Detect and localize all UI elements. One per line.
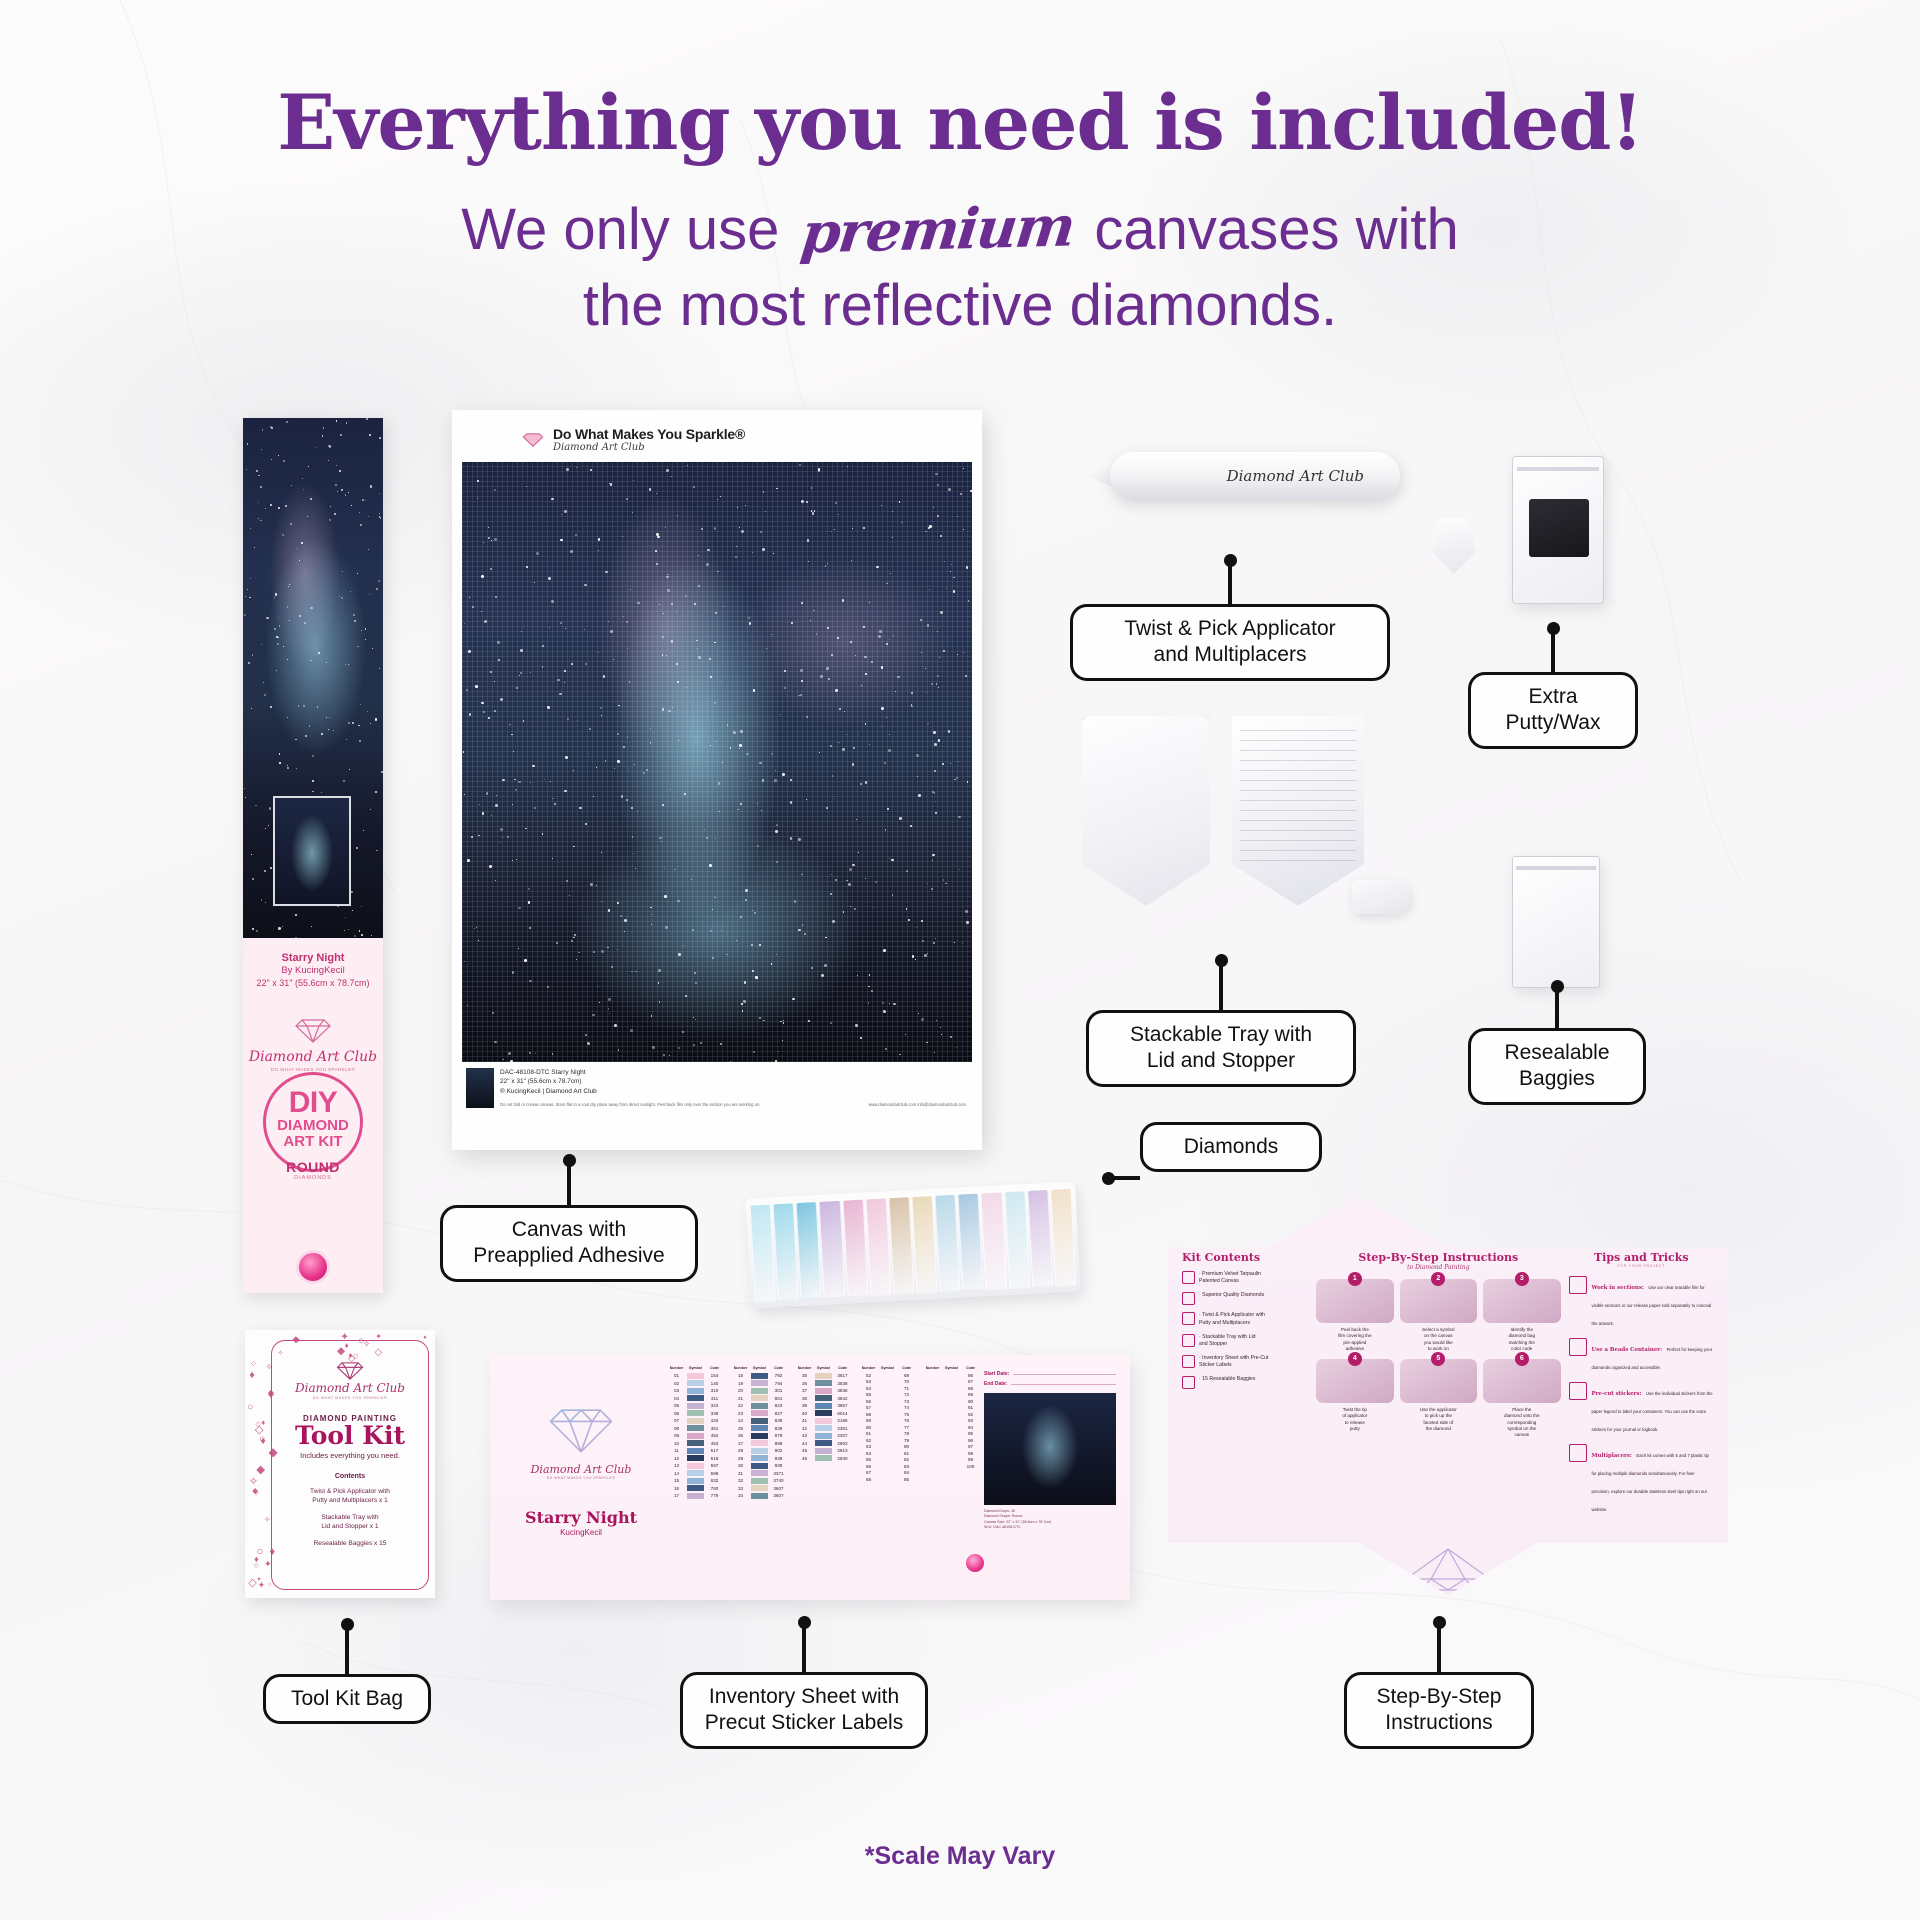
gem-doodle-icon: ○ xyxy=(268,1581,272,1588)
canvas-footer-sku: DAC-48108-DTC Starry Night xyxy=(500,1068,597,1077)
color-swatch xyxy=(751,1448,768,1454)
instruction-step: 2Select a symbol on the canvas you would… xyxy=(1400,1279,1477,1353)
inventory-row: 343607 xyxy=(732,1493,787,1499)
inventory-number: 07 xyxy=(668,1418,685,1423)
inventory-column-header: NumberSymbolCode xyxy=(668,1367,723,1371)
inventory-row: 99 xyxy=(924,1457,979,1462)
inventory-code: 69 xyxy=(898,1373,915,1378)
inventory-number: 22 xyxy=(732,1403,749,1408)
inventory-row: 98 xyxy=(924,1451,979,1456)
gem-doodle-icon: ◇ xyxy=(248,1576,256,1589)
page-subheadline-line2: the most reflective diamonds. xyxy=(0,272,1920,339)
callout-tray[interactable]: Stackable Tray with Lid and Stopper xyxy=(1086,1010,1356,1087)
step-number: 1 xyxy=(1348,1272,1362,1286)
canvas-footer-text: DAC-48108-DTC Starry Night 22" x 31" (55… xyxy=(500,1068,597,1096)
inventory-number: 65 xyxy=(860,1457,877,1462)
inventory-number: 17 xyxy=(668,1493,685,1498)
tool-kit-title: Tool Kit xyxy=(272,1423,428,1449)
instruction-step: 4Twist the tip of applicator to release … xyxy=(1316,1359,1393,1439)
diy-label-line2: DIAMOND xyxy=(243,1118,383,1134)
inventory-row: 16760 xyxy=(668,1485,723,1491)
extra-putty-wax-bag xyxy=(1512,456,1604,604)
inventory-number: 03 xyxy=(668,1388,685,1393)
inventory-row: 17779 xyxy=(668,1493,723,1499)
tip-icon xyxy=(1569,1444,1587,1462)
color-swatch xyxy=(751,1395,768,1401)
inventory-code: 81 xyxy=(898,1451,915,1456)
inventory-row: 393857 xyxy=(796,1403,851,1409)
callout-applicator[interactable]: Twist & Pick Applicator and Multiplacers xyxy=(1070,604,1390,681)
color-swatch xyxy=(687,1455,704,1461)
inventory-code: 453 xyxy=(706,1441,723,1446)
diamond-bag xyxy=(750,1203,776,1302)
kit-item-icon xyxy=(1182,1355,1195,1368)
inventory-row: 5976 xyxy=(860,1418,915,1423)
inventory-number: 19 xyxy=(732,1381,749,1386)
inventory-row: 01154 xyxy=(668,1373,723,1379)
box-brand-name: Diamond Art Club xyxy=(243,1049,383,1065)
inventory-number: 61 xyxy=(860,1431,877,1436)
inventory-number: 31 xyxy=(732,1471,749,1476)
inventory-code: 597 xyxy=(706,1463,723,1468)
inventory-column-header: NumberSymbolCode xyxy=(732,1367,787,1371)
diy-diamonds-label: DIAMONDS xyxy=(243,1175,383,1181)
canvas-footer: DAC-48108-DTC Starry Night 22" x 31" (55… xyxy=(462,1062,972,1130)
color-swatch xyxy=(751,1373,768,1379)
step-text: Identify the diamond bag matching the co… xyxy=(1483,1327,1560,1353)
inventory-number: 43 xyxy=(796,1433,813,1438)
inventory-number: 32 xyxy=(732,1478,749,1483)
inventory-code: 6014 xyxy=(834,1411,851,1416)
inventory-column-header: NumberSymbolCode xyxy=(924,1367,979,1371)
inventory-row: 15632 xyxy=(668,1478,723,1484)
inventory-number: 26 xyxy=(732,1433,749,1438)
kit-item-icon xyxy=(1182,1312,1195,1325)
color-swatch xyxy=(687,1395,704,1401)
inventory-row: 100 xyxy=(924,1464,979,1469)
inventory-code: 3607 xyxy=(770,1493,787,1498)
tip-title: Work in sections: xyxy=(1592,1285,1644,1291)
callout-canvas[interactable]: Canvas with Preapplied Adhesive xyxy=(440,1205,698,1282)
inventory-code: 77 xyxy=(898,1425,915,1430)
gem-doodle-icon: ◇ xyxy=(254,1562,259,1569)
color-swatch xyxy=(815,1395,832,1401)
color-swatch xyxy=(687,1403,704,1409)
tool-kit-bag: Diamond Art Club DO WHAT MAKES YOU SPARK… xyxy=(245,1330,435,1598)
inventory-code: 97 xyxy=(962,1444,979,1449)
callout-leader-line xyxy=(567,1160,571,1205)
tool-kit-content-item: Twist & Pick Applicator with Putty and M… xyxy=(272,1488,428,1506)
diamond-bag xyxy=(935,1194,961,1293)
callout-anchor-dot xyxy=(1433,1616,1446,1629)
color-swatch xyxy=(687,1493,704,1499)
subheadline-post: canvases with xyxy=(1094,197,1458,262)
inventory-code: 517 xyxy=(706,1448,723,1453)
inventory-row: 5774 xyxy=(860,1405,915,1410)
color-swatch xyxy=(751,1470,768,1476)
gem-doodle-icon: ✦ xyxy=(340,1331,349,1343)
step-number: 3 xyxy=(1515,1272,1529,1286)
inventory-code: 3838 xyxy=(834,1381,851,1386)
kit-item-text: · Superior Quality Diamonds xyxy=(1199,1292,1264,1299)
gem-icon xyxy=(296,1250,330,1284)
inventory-code: 72 xyxy=(898,1392,915,1397)
inventory-number: 13 xyxy=(668,1463,685,1468)
inventory-row: 03310 xyxy=(668,1388,723,1394)
applicator-brand-label: Diamond Art Club xyxy=(1227,467,1364,485)
inventory-row: 6178 xyxy=(860,1431,915,1436)
inventory-number: 27 xyxy=(732,1441,749,1446)
callout-diamonds[interactable]: Diamonds xyxy=(1140,1122,1322,1172)
tip-icon xyxy=(1569,1276,1587,1294)
inventory-code: 2307 xyxy=(834,1433,851,1438)
tips-subheading: FOR YOUR PROJECT xyxy=(1569,1264,1714,1268)
box-title: Starry Night xyxy=(243,952,383,964)
inventory-row: 27898 xyxy=(732,1440,787,1446)
color-swatch xyxy=(687,1485,704,1491)
inventory-code: 82 xyxy=(898,1457,915,1462)
callout-putty[interactable]: Extra Putty/Wax xyxy=(1468,672,1638,749)
instruction-step: 5Use the applicator to pick up the facet… xyxy=(1400,1359,1477,1439)
inventory-code: 301 xyxy=(770,1388,787,1393)
color-swatch xyxy=(751,1425,768,1431)
callout-anchor-dot xyxy=(563,1154,576,1167)
inventory-row: 04311 xyxy=(668,1395,723,1401)
color-swatch xyxy=(687,1433,704,1439)
inventory-row: 442903 xyxy=(796,1440,851,1446)
box-author: By KucingKecil xyxy=(243,965,383,976)
step-text: Select a symbol on the canvas you would … xyxy=(1400,1327,1477,1353)
diamond-bag xyxy=(773,1202,799,1301)
inventory-code: 3836 xyxy=(834,1388,851,1393)
putty-wax-contents xyxy=(1529,499,1589,557)
instruction-step: 3Identify the diamond bag matching the c… xyxy=(1483,1279,1560,1353)
gem-icon xyxy=(966,1554,984,1572)
gem-doodle-icon: ○ xyxy=(256,1544,263,1558)
color-swatch xyxy=(687,1463,704,1469)
diamond-bag xyxy=(888,1196,914,1295)
color-swatch xyxy=(815,1425,832,1431)
inventory-code: 823 xyxy=(770,1403,787,1408)
inventory-number: 62 xyxy=(860,1438,877,1443)
inventory-code: 452 xyxy=(706,1433,723,1438)
inventory-row: 93 xyxy=(924,1418,979,1423)
inventory-code: 79 xyxy=(898,1438,915,1443)
callout-leader-line xyxy=(1551,628,1555,672)
inventory-row: 323740 xyxy=(732,1478,787,1484)
inventory-number: 23 xyxy=(732,1411,749,1416)
inventory-number: 24 xyxy=(732,1418,749,1423)
inventory-row: 5370 xyxy=(860,1379,915,1384)
inventory-code: 85 xyxy=(898,1477,915,1482)
inventory-row: 6279 xyxy=(860,1438,915,1443)
inventory-code: 598 xyxy=(706,1471,723,1476)
inventory-number: 04 xyxy=(668,1396,685,1401)
inventory-number: 64 xyxy=(860,1451,877,1456)
tip-text: Use the individual stickers from the pap… xyxy=(1592,1391,1713,1432)
kit-item-icon xyxy=(1182,1292,1195,1305)
product-canvas: Do What Makes You Sparkle® Diamond Art C… xyxy=(452,410,982,1150)
gem-doodle-icon: ♦ xyxy=(423,1334,426,1341)
canvas-footer-thumbnail xyxy=(466,1068,494,1108)
inventory-number: 58 xyxy=(860,1412,877,1417)
gem-doodle-icon: ✦ xyxy=(264,1559,272,1570)
diy-round-label: ROUND xyxy=(243,1159,383,1175)
color-swatch xyxy=(815,1418,832,1424)
inventory-code: 310 xyxy=(706,1388,723,1393)
inventory-number: 37 xyxy=(796,1388,813,1393)
gem-doodle-icon: ♦ xyxy=(249,1369,254,1381)
gem-doodle-icon: ✦ xyxy=(375,1332,382,1341)
inventory-author: KucingKecil xyxy=(506,1528,656,1537)
inventory-number: 18 xyxy=(732,1373,749,1378)
inventory-code: 86 xyxy=(962,1373,979,1378)
callout-toolkit[interactable]: Tool Kit Bag xyxy=(263,1674,431,1724)
inventory-code: 76 xyxy=(898,1418,915,1423)
kit-content-item: · Premium Velvet Tarpaulin Patented Canv… xyxy=(1182,1271,1308,1285)
inventory-row: 92 xyxy=(924,1412,979,1417)
tip-item: Use a Beads Container: Perfect for keepi… xyxy=(1569,1338,1714,1374)
step-number: 2 xyxy=(1431,1272,1445,1286)
inventory-row: 06336 xyxy=(668,1410,723,1416)
box-brand-block: Diamond Art Club DO WHAT MAKES YOU SPARK… xyxy=(243,1018,383,1072)
inventory-row: 08451 xyxy=(668,1425,723,1431)
diy-badge: DIY DIAMOND ART KIT ROUND DIAMONDS ALL I… xyxy=(243,1078,383,1181)
inventory-row: 21801 xyxy=(732,1395,787,1401)
inventory-row: 373836 xyxy=(796,1388,851,1394)
inventory-row: 6683 xyxy=(860,1464,915,1469)
box-artwork-thumbnail xyxy=(273,796,351,906)
inventory-row: 18792 xyxy=(732,1373,787,1379)
inventory-number: 33 xyxy=(732,1486,749,1491)
gem-doodle-icon: ◆ xyxy=(269,1445,278,1459)
tips-list: Work in sections: Use our clear tearable… xyxy=(1569,1276,1714,1516)
inventory-row: 94 xyxy=(924,1425,979,1430)
inventory-row: 14598 xyxy=(668,1470,723,1476)
gem-doodle-icon: ◆ xyxy=(292,1334,299,1345)
color-swatch xyxy=(687,1440,704,1446)
tip-item: Work in sections: Use our clear tearable… xyxy=(1569,1276,1714,1330)
inventory-brand-name: Diamond Art Club xyxy=(506,1463,656,1476)
kit-content-item: · Superior Quality Diamonds xyxy=(1182,1292,1308,1305)
inventory-code: 632 xyxy=(706,1478,723,1483)
callout-leader-line xyxy=(1219,960,1223,1010)
inventory-row: 406014 xyxy=(796,1410,851,1416)
inventory-number: 38 xyxy=(796,1396,813,1401)
gem-doodle-icon: ♦ xyxy=(261,1418,265,1427)
inventory-code: 939 xyxy=(770,1463,787,1468)
inventory-code: 80 xyxy=(898,1444,915,1449)
inventory-number: 54 xyxy=(860,1386,877,1391)
inventory-number: 34 xyxy=(732,1493,749,1498)
inventory-row: 462940 xyxy=(796,1455,851,1461)
tip-icon xyxy=(1569,1382,1587,1400)
inventory-column: NumberSymbolCode011540214003310043110532… xyxy=(668,1367,723,1500)
kit-item-text: · Inventory Sheet with Pre-Cut Sticker L… xyxy=(1199,1355,1268,1369)
diy-label: DIY xyxy=(243,1078,383,1118)
inventory-row: 97 xyxy=(924,1444,979,1449)
inventory-code: 838 xyxy=(770,1418,787,1423)
inventory-code: 878 xyxy=(770,1433,787,1438)
inventory-number: 46 xyxy=(796,1456,813,1461)
diamond-bag xyxy=(1004,1190,1030,1289)
inventory-branding: Diamond Art Club DO WHAT MAKES YOU SPARK… xyxy=(506,1355,656,1600)
callout-anchor-dot xyxy=(798,1616,811,1629)
color-swatch xyxy=(751,1493,768,1499)
instructions-columns: Kit Contents · Premium Velvet Tarpaulin … xyxy=(1168,1251,1728,1541)
inventory-number: 66 xyxy=(860,1464,877,1469)
inventory-column: NumberSymbolCode868788899091929394959697… xyxy=(924,1367,979,1500)
end-date-label: End Date: xyxy=(984,1381,1007,1387)
kit-item-text: · Stackable Tray with Lid and Stopper xyxy=(1199,1334,1256,1348)
callout-baggies[interactable]: Resealable Baggies xyxy=(1468,1028,1646,1105)
inventory-code: 83 xyxy=(898,1464,915,1469)
inventory-artwork-thumbnail xyxy=(984,1393,1116,1505)
color-swatch xyxy=(815,1380,832,1386)
inventory-number: 52 xyxy=(860,1373,877,1378)
subheadline-pre: We only use xyxy=(461,197,779,262)
inventory-row: 10453 xyxy=(668,1440,723,1446)
inventory-code: 792 xyxy=(770,1373,787,1378)
inventory-code: 760 xyxy=(706,1486,723,1491)
inventory-row: 5572 xyxy=(860,1392,915,1397)
step-number: 6 xyxy=(1515,1352,1529,1366)
diamond-bag xyxy=(958,1192,984,1291)
inventory-code: 2166 xyxy=(834,1418,851,1423)
color-swatch xyxy=(751,1440,768,1446)
diamond-icon xyxy=(290,1018,336,1044)
inventory-row: 30939 xyxy=(732,1463,787,1469)
inventory-number: 55 xyxy=(860,1392,877,1397)
tray-stopper xyxy=(1352,880,1410,914)
color-swatch xyxy=(687,1478,704,1484)
inventory-number: 05 xyxy=(668,1403,685,1408)
box-size: 22" x 31" (55.6cm x 78.7cm) xyxy=(243,978,383,988)
callout-leader-line xyxy=(345,1624,349,1674)
product-box-packaging: Starry Night By KucingKecil 22" x 31" (5… xyxy=(243,418,383,1293)
gem-doodle-icon: ◆ xyxy=(252,1486,258,1495)
inventory-row: 13597 xyxy=(668,1463,723,1469)
step-by-step-instructions-sheet: Kit Contents · Premium Velvet Tarpaulin … xyxy=(1168,1195,1728,1595)
inventory-code: 74 xyxy=(898,1405,915,1410)
color-swatch xyxy=(751,1403,768,1409)
inventory-number: 44 xyxy=(796,1441,813,1446)
inventory-number: 21 xyxy=(732,1396,749,1401)
inventory-code: 794 xyxy=(770,1381,787,1386)
color-swatch xyxy=(751,1410,768,1416)
inventory-row: 422301 xyxy=(796,1425,851,1431)
color-swatch xyxy=(815,1373,832,1379)
gem-doodle-icon: ✦ xyxy=(266,1388,276,1402)
inventory-number: 15 xyxy=(668,1478,685,1483)
steps-grid: 1Peel back the film covering the pre-app… xyxy=(1316,1279,1560,1439)
inventory-code: 801 xyxy=(770,1396,787,1401)
diamond-bag xyxy=(796,1201,822,1300)
callout-anchor-dot xyxy=(341,1618,354,1631)
tool-kit-content-item: Stackable Tray with Lid and Stopper x 1 xyxy=(272,1514,428,1532)
inventory-row: 383842 xyxy=(796,1395,851,1401)
box-info: Starry Night By KucingKecil 22" x 31" (5… xyxy=(243,952,383,1072)
inventory-number: 67 xyxy=(860,1470,877,1475)
inventory-code: 518 xyxy=(706,1456,723,1461)
gem-doodle-icon: ◇ xyxy=(255,1419,261,1428)
end-date-field[interactable]: End Date: xyxy=(984,1381,1116,1387)
inventory-color-table: NumberSymbolCode011540214003310043110532… xyxy=(668,1367,979,1500)
inventory-code: 154 xyxy=(706,1373,723,1378)
diamond-bag xyxy=(1050,1188,1076,1287)
inventory-code: 322 xyxy=(706,1403,723,1408)
inventory-row: 28902 xyxy=(732,1448,787,1454)
inventory-row: 91 xyxy=(924,1405,979,1410)
tips-heading: Tips and Tricks xyxy=(1569,1251,1714,1264)
canvas-logo-sub: Diamond Art Club xyxy=(553,442,745,453)
start-date-field[interactable]: Start Date: xyxy=(984,1371,1116,1377)
inventory-row: 05322 xyxy=(668,1403,723,1409)
inventory-code: 94 xyxy=(962,1425,979,1430)
inventory-code: 3857 xyxy=(834,1403,851,1408)
color-swatch xyxy=(751,1388,768,1394)
inventory-code: 898 xyxy=(770,1441,787,1446)
steps-heading: Step-By-Step Instructions xyxy=(1316,1251,1560,1264)
color-swatch xyxy=(815,1433,832,1439)
inventory-number: 36 xyxy=(796,1381,813,1386)
color-swatch xyxy=(687,1380,704,1386)
inventory-number: 28 xyxy=(732,1448,749,1453)
callout-leader-line xyxy=(802,1622,806,1672)
inventory-code: 451 xyxy=(706,1426,723,1431)
gem-doodle-icon: ○ xyxy=(358,1335,365,1347)
inventory-row: 6784 xyxy=(860,1470,915,1475)
tool-kit-contents-heading: Contents xyxy=(272,1473,428,1480)
inventory-row: 26878 xyxy=(732,1433,787,1439)
inventory-row: 5875 xyxy=(860,1412,915,1417)
inventory-number: 41 xyxy=(796,1418,813,1423)
color-swatch xyxy=(687,1373,704,1379)
diamond-bags-strip xyxy=(745,1181,1080,1308)
gem-doodle-icon: ○ xyxy=(247,1402,253,1413)
kit-content-item: · Inventory Sheet with Pre-Cut Sticker L… xyxy=(1182,1355,1308,1369)
step-number: 4 xyxy=(1348,1352,1362,1366)
inventory-code: 2301 xyxy=(834,1426,851,1431)
diamond-bag xyxy=(865,1197,891,1296)
kit-contents-column: Kit Contents · Premium Velvet Tarpaulin … xyxy=(1182,1251,1308,1541)
inventory-row: 22823 xyxy=(732,1403,787,1409)
steps-column: Step-By-Step Instructions to Diamond Pai… xyxy=(1316,1251,1560,1541)
scale-footnote: *Scale May Vary xyxy=(0,1842,1920,1871)
color-swatch xyxy=(815,1455,832,1461)
canvas-footer-contact: www.diamondartclub.com info@diamondartcl… xyxy=(868,1102,966,1107)
inventory-code: 73 xyxy=(898,1399,915,1404)
inventory-number: 63 xyxy=(860,1444,877,1449)
color-swatch xyxy=(751,1455,768,1461)
inventory-code: 98 xyxy=(962,1451,979,1456)
kit-item-icon xyxy=(1182,1376,1195,1389)
callout-inventory[interactable]: Inventory Sheet with Precut Sticker Labe… xyxy=(680,1672,928,1749)
inventory-number: 40 xyxy=(796,1411,813,1416)
gem-doodle-icon: ◇ xyxy=(375,1347,383,1358)
inventory-code: 902 xyxy=(770,1448,787,1453)
inventory-column: NumberSymbolCode187921979420301218012282… xyxy=(732,1367,787,1500)
subheadline-script-word: premium xyxy=(791,193,1082,266)
callout-leader-line xyxy=(1437,1622,1441,1672)
color-swatch xyxy=(687,1425,704,1431)
inventory-row: 6481 xyxy=(860,1451,915,1456)
inventory-row: 432307 xyxy=(796,1433,851,1439)
callout-instructions[interactable]: Step-By-Step Instructions xyxy=(1344,1672,1534,1749)
inventory-row: 24838 xyxy=(732,1418,787,1424)
step-text: Peel back the film covering the pre-appl… xyxy=(1316,1327,1393,1353)
inventory-code: 100 xyxy=(962,1464,979,1469)
